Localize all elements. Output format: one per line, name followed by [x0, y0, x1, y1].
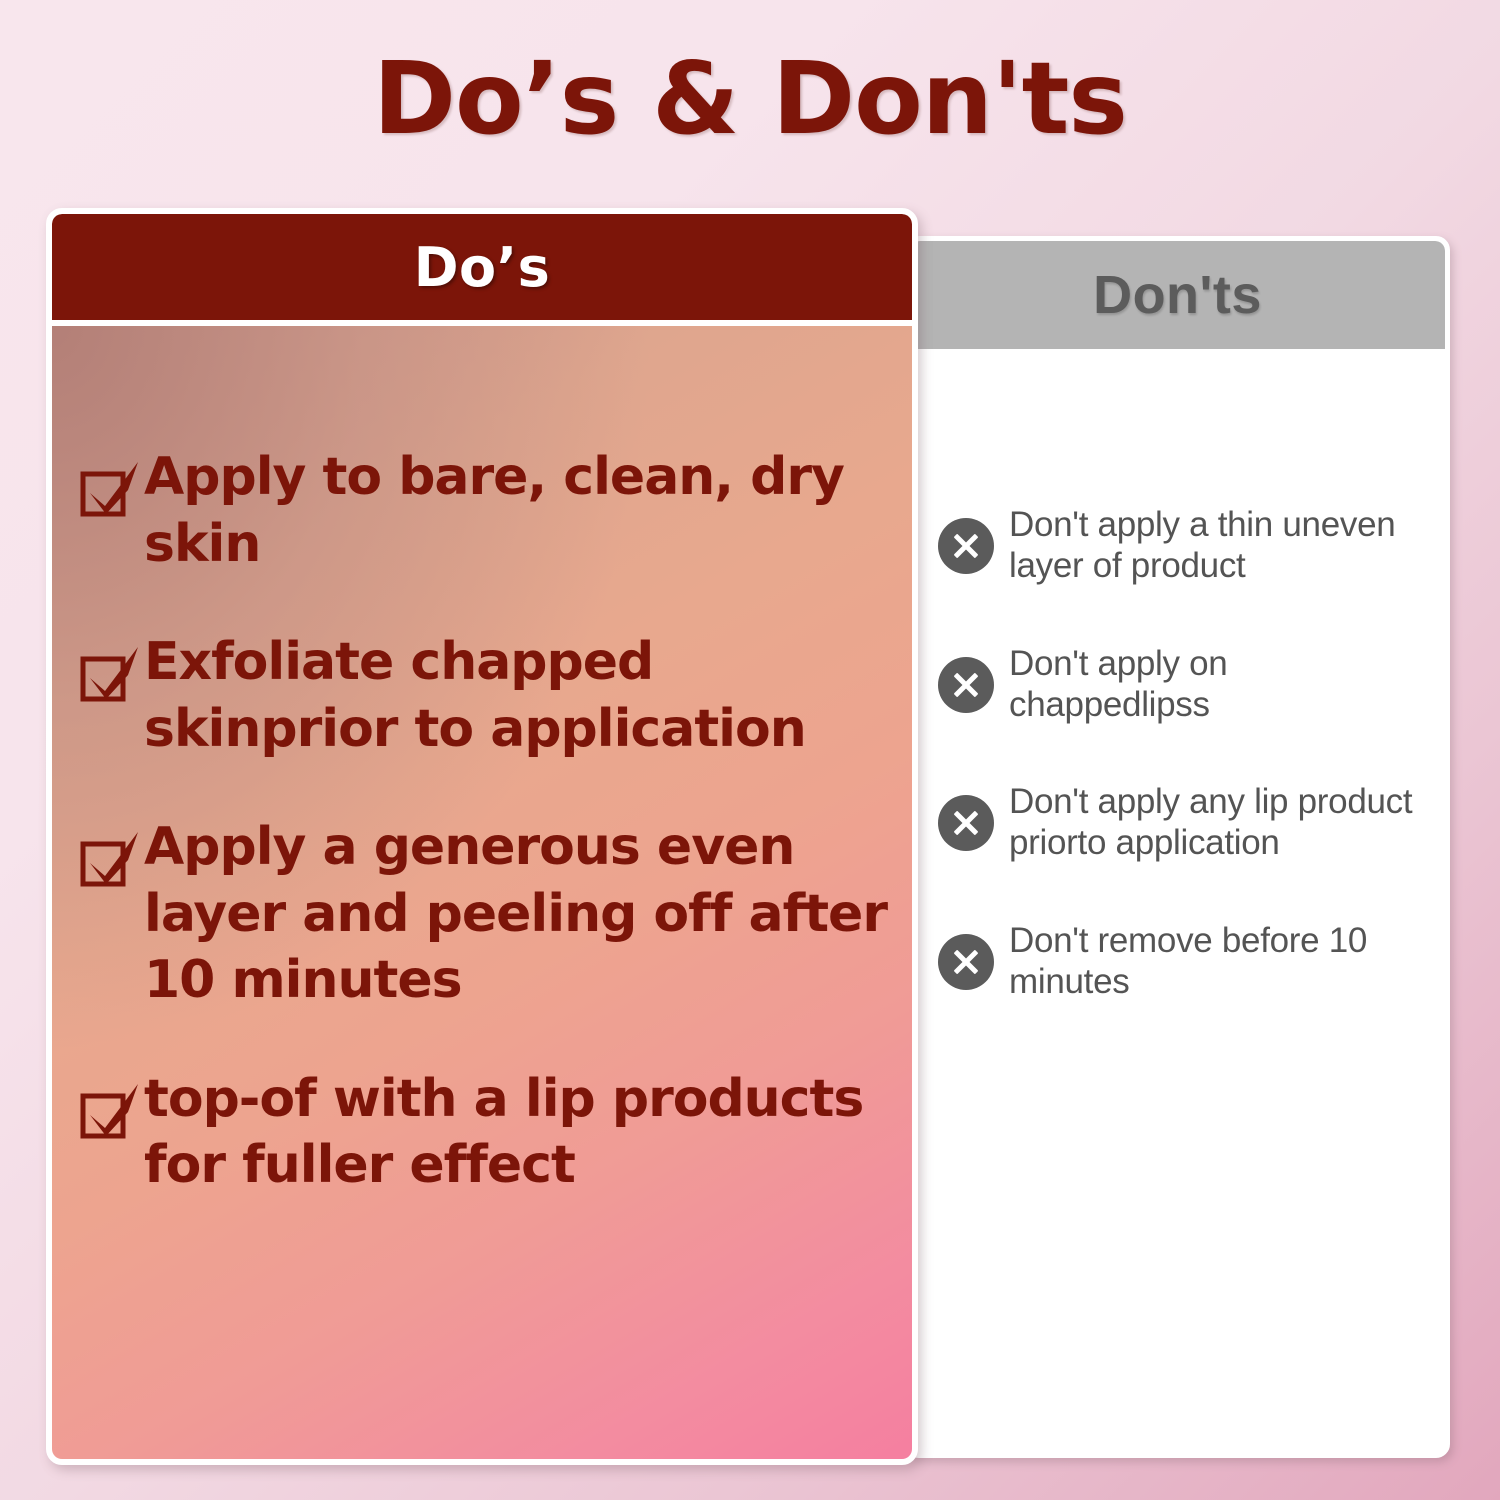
list-item: Exfoliate chapped skinprior to applicati…: [80, 629, 890, 762]
page-title-container: Do’s & Don'ts: [0, 44, 1500, 154]
checkbox-check-icon: [80, 645, 142, 705]
dos-header-label: Do’s: [414, 236, 551, 299]
list-item: Don't remove before 10 minutes: [910, 920, 1445, 1003]
dont-item-label: Don't apply any lip product priorto appl…: [1009, 781, 1419, 864]
donts-panel-header: Don'ts: [910, 241, 1445, 349]
dos-panel: Do’s Apply to bare, clean, dry skin Exfo…: [46, 208, 918, 1465]
do-item-label: Apply a generous even layer and peeling …: [144, 814, 890, 1014]
list-item: Apply a generous even layer and peeling …: [80, 814, 890, 1014]
dos-panel-header: Do’s: [52, 214, 912, 320]
checkbox-check-icon: [80, 830, 142, 890]
donts-list: Don't apply a thin uneven layer of produ…: [910, 349, 1445, 1002]
page-title: Do’s & Don'ts: [0, 44, 1500, 154]
x-circle-icon: [938, 657, 994, 713]
donts-panel: Don'ts Don't apply a thin uneven layer o…: [905, 236, 1450, 1458]
dont-item-label: Don't remove before 10 minutes: [1009, 920, 1419, 1003]
x-circle-icon: [938, 795, 994, 851]
list-item: Don't apply a thin uneven layer of produ…: [910, 504, 1445, 587]
do-item-label: top-of with a lip products for fuller ef…: [144, 1066, 890, 1199]
list-item: Apply to bare, clean, dry skin: [80, 444, 890, 577]
dont-item-label: Don't apply on chappedlipss: [1009, 643, 1419, 726]
dont-item-label: Don't apply a thin uneven layer of produ…: [1009, 504, 1419, 587]
list-item: top-of with a lip products for fuller ef…: [80, 1066, 890, 1199]
list-item: Don't apply on chappedlipss: [910, 643, 1445, 726]
donts-header-label: Don'ts: [1093, 264, 1262, 326]
checkbox-check-icon: [80, 1082, 142, 1142]
checkbox-check-icon: [80, 460, 142, 520]
do-item-label: Exfoliate chapped skinprior to applicati…: [144, 629, 890, 762]
list-item: Don't apply any lip product priorto appl…: [910, 781, 1445, 864]
do-item-label: Apply to bare, clean, dry skin: [144, 444, 890, 577]
x-circle-icon: [938, 518, 994, 574]
dos-list: Apply to bare, clean, dry skin Exfoliate…: [52, 326, 912, 1459]
x-circle-icon: [938, 934, 994, 990]
